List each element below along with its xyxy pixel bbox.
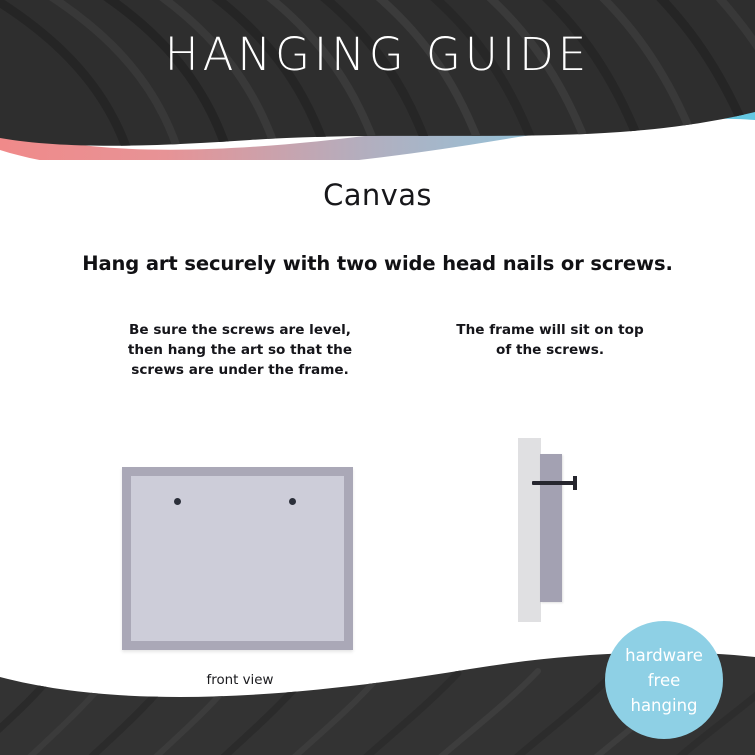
side-view-frame [540, 454, 562, 602]
side-view-instructions: The frame will sit on top of the screws. [420, 320, 680, 360]
page-title: HANGING GUIDE [0, 28, 755, 81]
screw-shaft-icon [532, 481, 576, 485]
hardware-free-hanging-badge: hardware free hanging [605, 621, 723, 739]
badge-line-2: free [648, 668, 681, 693]
badge-line-3: hanging [630, 693, 697, 718]
diagram-panels: Be sure the screws are level, then hang … [0, 320, 755, 650]
badge-line-1: hardware [625, 643, 703, 668]
main-content: Canvas Hang art securely with two wide h… [0, 160, 755, 275]
main-instruction: Hang art securely with two wide head nai… [0, 252, 755, 275]
product-name: Canvas [0, 178, 755, 212]
front-view-instructions: Be sure the screws are level, then hang … [100, 320, 380, 380]
screw-dot-right-icon [289, 498, 296, 505]
screw-dot-left-icon [174, 498, 181, 505]
front-view-artwork [122, 467, 353, 650]
side-view-instruction-line-1: The frame will sit on top [420, 320, 680, 340]
hanging-guide-page: HANGING GUIDE Canvas Hang art securely w… [0, 0, 755, 755]
front-view-canvas-face [131, 476, 344, 641]
screw-head-icon [573, 476, 577, 490]
side-view-artwork [518, 438, 588, 628]
front-view-frame [122, 467, 353, 650]
header-band: HANGING GUIDE [0, 0, 755, 160]
front-view-instruction-line-3: screws are under the frame. [108, 360, 372, 380]
panel-front-view: Be sure the screws are level, then hang … [100, 320, 380, 380]
side-view-wall [518, 438, 541, 622]
side-view-instruction-line-2: of the screws. [420, 340, 680, 360]
panel-side-view: The frame will sit on top of the screws.… [420, 320, 680, 360]
front-view-instruction-line-1: Be sure the screws are level, [108, 320, 372, 340]
front-view-instruction-line-2: then hang the art so that the [108, 340, 372, 360]
